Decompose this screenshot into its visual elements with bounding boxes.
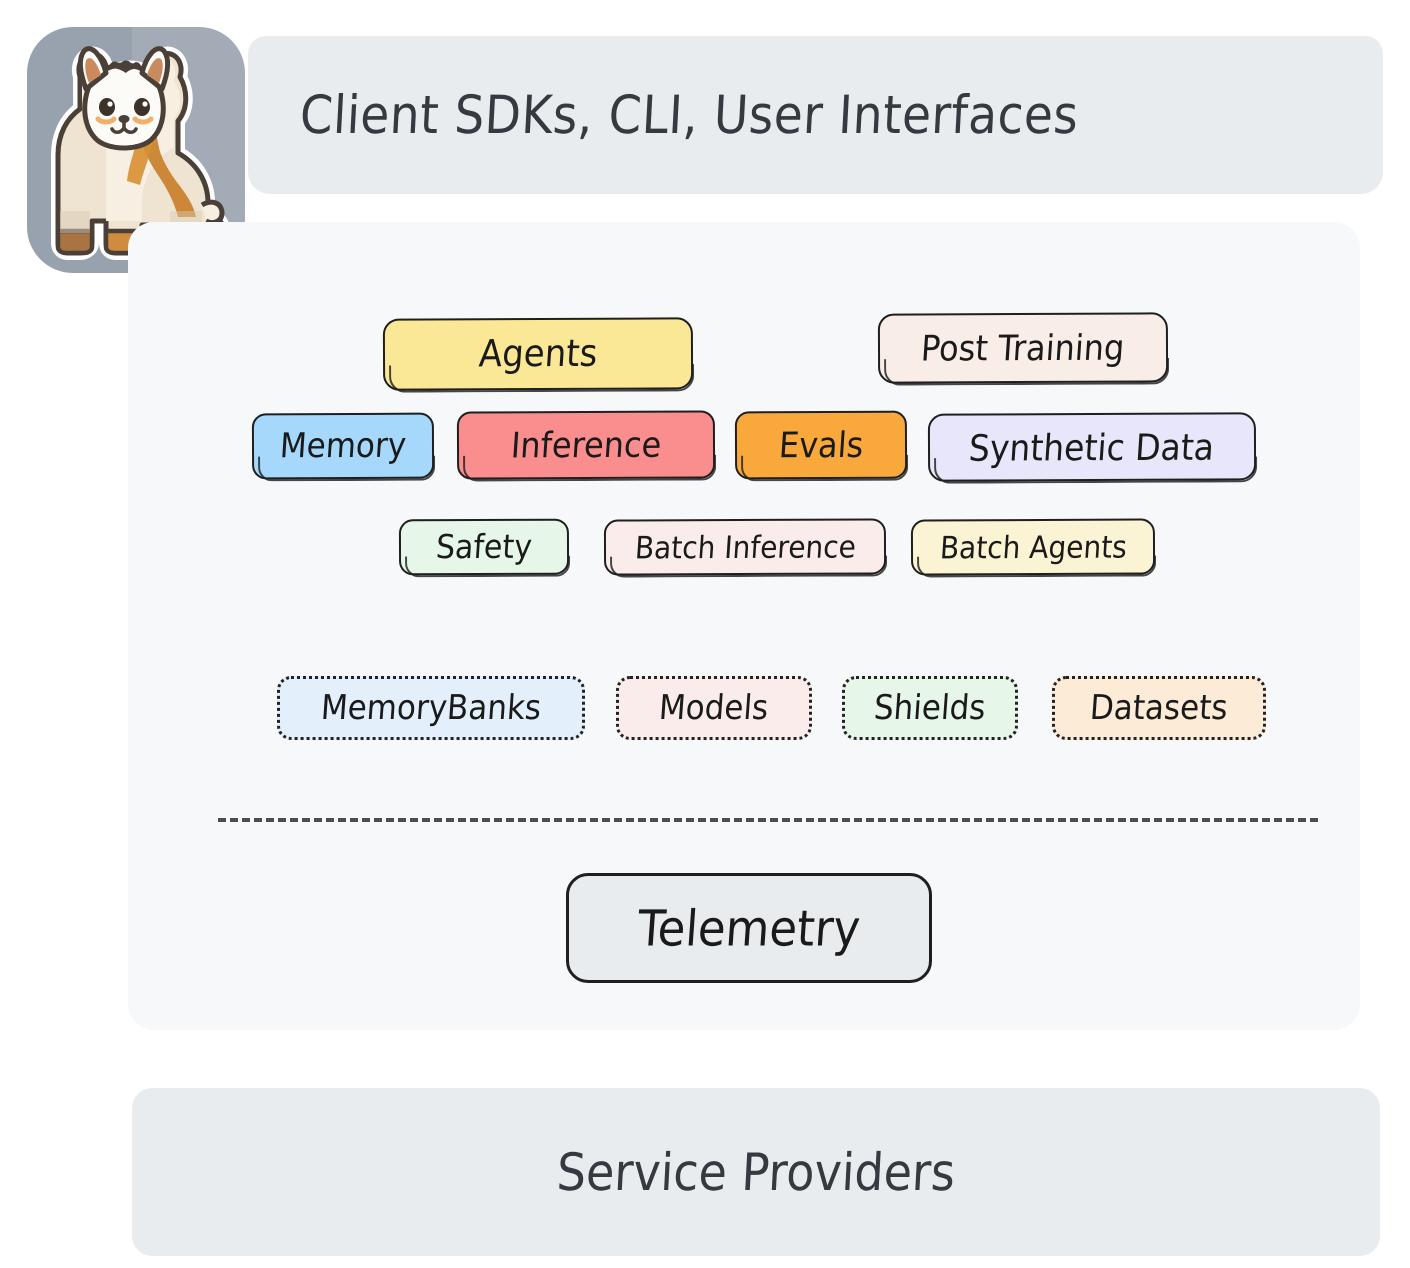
- resource-box-datasets[interactable]: Datasets: [1052, 676, 1266, 740]
- api-box-inference-label: Inference: [509, 424, 662, 466]
- api-box-memory-label: Memory: [279, 426, 408, 466]
- api-box-post-training[interactable]: Post Training: [878, 312, 1168, 383]
- resource-box-datasets-label: Datasets: [1089, 688, 1229, 728]
- resource-box-models[interactable]: Models: [616, 676, 812, 740]
- footer-bar: Service Providers: [132, 1088, 1380, 1256]
- api-box-safety[interactable]: Safety: [399, 519, 569, 576]
- api-box-agents[interactable]: Agents: [383, 317, 693, 390]
- api-box-memory[interactable]: Memory: [252, 413, 434, 480]
- telemetry-box-label: Telemetry: [636, 899, 862, 957]
- resource-box-shields-label: Shields: [873, 688, 987, 728]
- resource-box-memorybanks-label: MemoryBanks: [320, 688, 543, 728]
- api-box-batch-agents[interactable]: Batch Agents: [911, 518, 1155, 575]
- footer-title: Service Providers: [555, 1142, 956, 1202]
- api-box-batch-inference-label: Batch Inference: [633, 528, 856, 565]
- api-box-agents-label: Agents: [477, 332, 598, 377]
- api-box-inference[interactable]: Inference: [457, 410, 715, 479]
- api-box-synthetic-data[interactable]: Synthetic Data: [928, 412, 1256, 481]
- api-box-evals-label: Evals: [777, 424, 864, 466]
- diagram-canvas: Client SDKs, CLI, User Interfaces: [0, 0, 1410, 1268]
- api-box-synthetic-data-label: Synthetic Data: [968, 425, 1216, 469]
- resource-box-shields[interactable]: Shields: [842, 676, 1018, 740]
- header-title: Client SDKs, CLI, User Interfaces: [298, 84, 1080, 146]
- api-box-batch-agents-label: Batch Agents: [938, 528, 1127, 565]
- api-box-evals[interactable]: Evals: [735, 411, 907, 480]
- dashed-separator: [218, 818, 1318, 822]
- api-box-safety-label: Safety: [435, 528, 533, 567]
- resource-box-models-label: Models: [658, 688, 770, 728]
- resource-box-memorybanks[interactable]: MemoryBanks: [277, 676, 585, 740]
- header-bar: Client SDKs, CLI, User Interfaces: [248, 36, 1383, 194]
- api-box-post-training-label: Post Training: [920, 327, 1126, 370]
- api-box-batch-inference[interactable]: Batch Inference: [604, 518, 886, 575]
- telemetry-box[interactable]: Telemetry: [566, 873, 932, 983]
